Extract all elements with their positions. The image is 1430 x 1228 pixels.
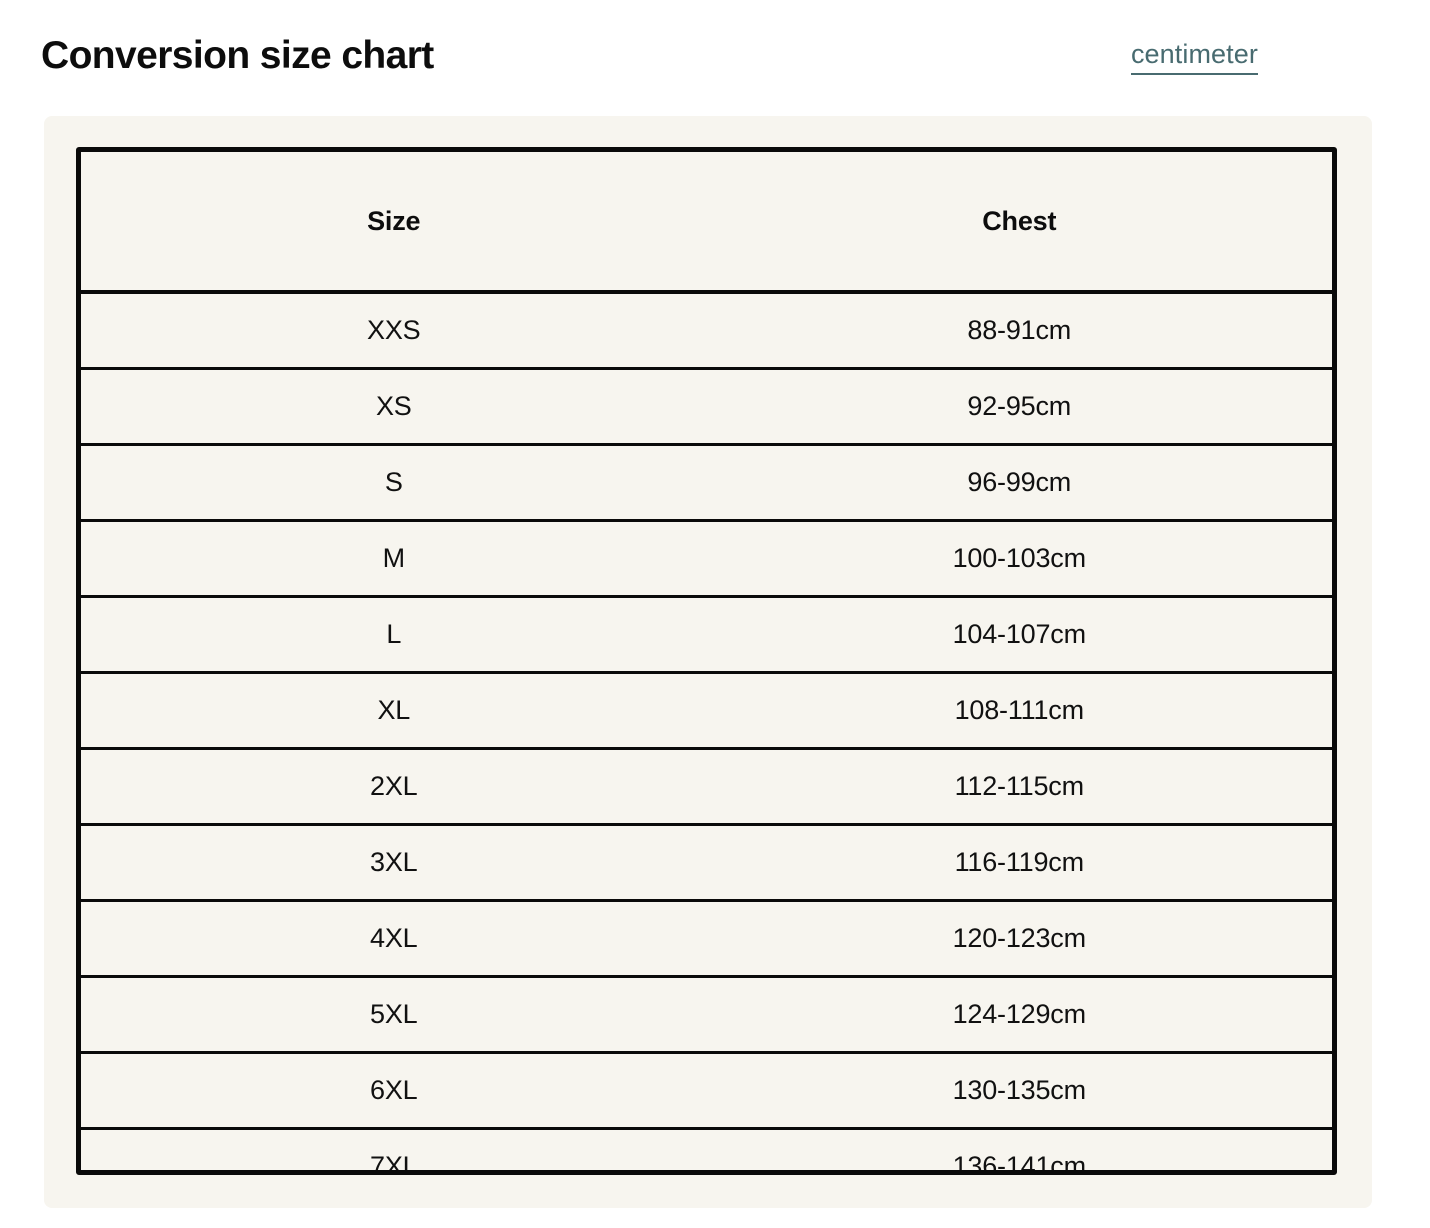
- table-row: 6XL130-135cm: [81, 1053, 1332, 1129]
- cell-size: XS: [81, 369, 707, 445]
- size-chart-panel: Size Chest XXS88-91cmXS92-95cmS96-99cmM1…: [44, 116, 1372, 1208]
- cell-chest: 136-141cm: [707, 1129, 1333, 1176]
- cell-size: XL: [81, 673, 707, 749]
- cell-size: S: [81, 445, 707, 521]
- cell-chest: 100-103cm: [707, 521, 1333, 597]
- cell-chest: 96-99cm: [707, 445, 1333, 521]
- table-body: XXS88-91cmXS92-95cmS96-99cmM100-103cmL10…: [81, 292, 1332, 1175]
- table-row: M100-103cm: [81, 521, 1332, 597]
- cell-size: M: [81, 521, 707, 597]
- cell-size: 2XL: [81, 749, 707, 825]
- unit-toggle-link-centimeter[interactable]: centimeter: [1131, 36, 1258, 75]
- cell-size: 3XL: [81, 825, 707, 901]
- table-row: XL108-111cm: [81, 673, 1332, 749]
- size-table-container: Size Chest XXS88-91cmXS92-95cmS96-99cmM1…: [76, 147, 1337, 1175]
- cell-size: 4XL: [81, 901, 707, 977]
- cell-size: L: [81, 597, 707, 673]
- table-row: 3XL116-119cm: [81, 825, 1332, 901]
- column-header-chest: Chest: [707, 152, 1333, 292]
- page-header: Conversion size chart centimeter: [0, 0, 1430, 116]
- table-header: Size Chest: [81, 152, 1332, 292]
- column-header-size: Size: [81, 152, 707, 292]
- cell-chest: 112-115cm: [707, 749, 1333, 825]
- cell-size: XXS: [81, 292, 707, 369]
- page-title: Conversion size chart: [41, 32, 434, 80]
- cell-size: 7XL: [81, 1129, 707, 1176]
- cell-chest: 120-123cm: [707, 901, 1333, 977]
- cell-chest: 88-91cm: [707, 292, 1333, 369]
- cell-chest: 124-129cm: [707, 977, 1333, 1053]
- cell-chest: 108-111cm: [707, 673, 1333, 749]
- table-row: L104-107cm: [81, 597, 1332, 673]
- table-row: XXS88-91cm: [81, 292, 1332, 369]
- cell-size: 6XL: [81, 1053, 707, 1129]
- conversion-size-table: Size Chest XXS88-91cmXS92-95cmS96-99cmM1…: [81, 152, 1332, 1175]
- table-header-row: Size Chest: [81, 152, 1332, 292]
- table-row: S96-99cm: [81, 445, 1332, 521]
- table-row: XS92-95cm: [81, 369, 1332, 445]
- table-row: 4XL120-123cm: [81, 901, 1332, 977]
- table-row: 7XL136-141cm: [81, 1129, 1332, 1176]
- cell-size: 5XL: [81, 977, 707, 1053]
- cell-chest: 130-135cm: [707, 1053, 1333, 1129]
- cell-chest: 92-95cm: [707, 369, 1333, 445]
- cell-chest: 116-119cm: [707, 825, 1333, 901]
- cell-chest: 104-107cm: [707, 597, 1333, 673]
- table-row: 2XL112-115cm: [81, 749, 1332, 825]
- table-row: 5XL124-129cm: [81, 977, 1332, 1053]
